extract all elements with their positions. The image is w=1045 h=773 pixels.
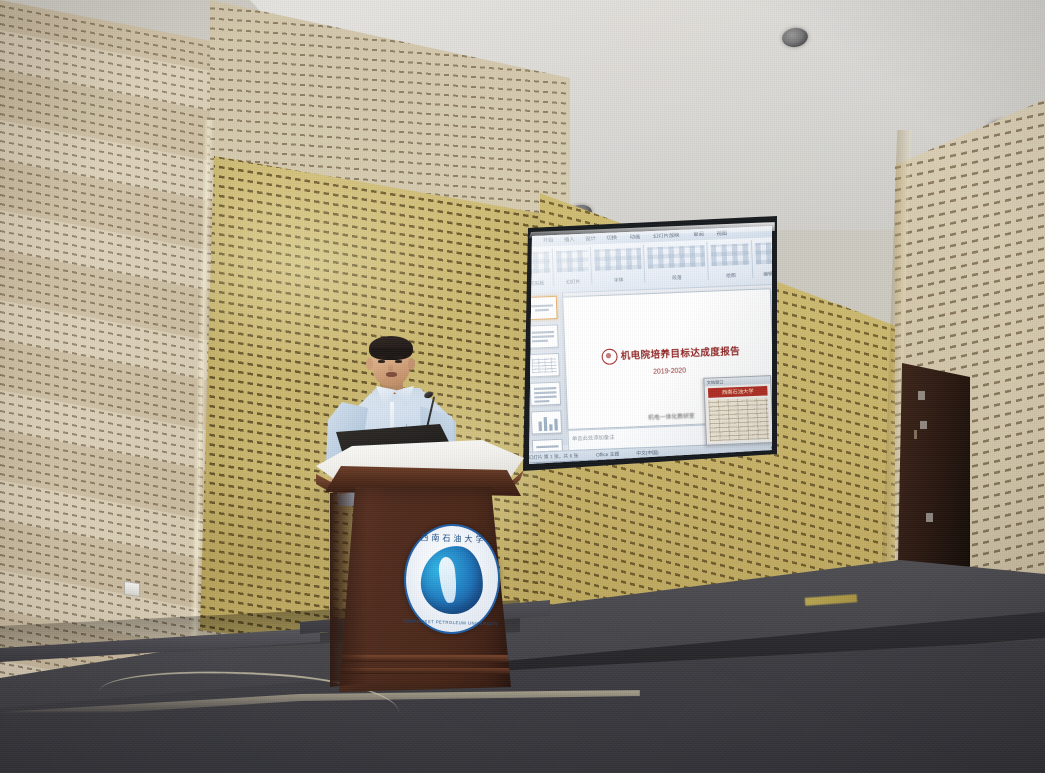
slide-thumbnail[interactable] <box>529 324 558 349</box>
overlay-document-window[interactable]: 文档窗口 西南石油大学 <box>703 375 772 446</box>
door-plate <box>918 391 925 400</box>
ribbon-group-clipboard[interactable]: 剪贴板 <box>529 248 554 287</box>
overlay-banner-text: 西南石油大学 <box>708 387 768 397</box>
ribbon[interactable]: 剪贴板 幻灯片 字体 段落 绘图 <box>529 237 772 295</box>
notes-placeholder: 单击此处添加备注 <box>572 433 615 442</box>
presenter-mouth <box>386 372 397 377</box>
slide-title: 机电院培养目标达成度报告 <box>620 343 759 362</box>
presenter-eye <box>378 360 385 363</box>
presenter-eyebrow <box>394 356 403 358</box>
door-plate <box>926 513 933 522</box>
presenter-ear <box>366 358 373 370</box>
photo-scene: 机电院培养目标达成度报告.ppt - Microsoft PowerPoint … <box>0 0 1045 773</box>
ribbon-group-paragraph[interactable]: 段落 <box>645 242 709 283</box>
overlay-document-body <box>708 398 769 442</box>
slide-thumbnail[interactable] <box>529 353 559 378</box>
door-plate <box>920 421 927 429</box>
ribbon-group-label: 幻灯片 <box>555 278 591 286</box>
ribbon-group-label: 段落 <box>646 274 708 283</box>
ribbon-group-label: 字体 <box>593 276 644 284</box>
presenter-eye <box>395 360 402 363</box>
presenter-ear <box>408 358 415 370</box>
ribbon-group-font[interactable]: 字体 <box>592 244 645 284</box>
slide-thumbnail[interactable] <box>530 410 562 435</box>
ribbon-group-slides[interactable]: 幻灯片 <box>554 247 593 287</box>
presenter-eyebrow <box>377 356 386 358</box>
wall-socket-plate <box>124 581 140 597</box>
projection-screen: 机电院培养目标达成度报告.ppt - Microsoft PowerPoint … <box>529 226 772 464</box>
slide-thumbnail[interactable] <box>529 296 557 321</box>
university-emblem: 西南石油大学 SOUTHWEST PETROLEUM UNIVERSITY <box>402 522 502 635</box>
door-handle[interactable] <box>914 430 917 439</box>
tab-home[interactable]: 开始 <box>543 236 554 244</box>
overlay-banner: 西南石油大学 <box>708 386 768 398</box>
theme-name: Office 主题 <box>596 451 619 458</box>
ribbon-group-drawing[interactable]: 绘图 <box>708 240 753 280</box>
ribbon-group-label: 绘图 <box>710 272 753 280</box>
university-crest-icon <box>601 348 618 365</box>
language: 中文(中国) <box>636 449 658 456</box>
overlay-title-bar[interactable]: 文档窗口 <box>704 376 770 386</box>
lectern-side-face <box>330 487 368 687</box>
slide-counter: 幻灯片 第 1 张，共 6 张 <box>529 452 578 460</box>
zoom-level[interactable]: 66% <box>771 444 772 450</box>
ribbon-group-label: 剪贴板 <box>529 280 553 288</box>
presenter-hair <box>369 336 413 360</box>
presenter-nose <box>388 363 393 371</box>
side-exit-door[interactable] <box>898 363 970 575</box>
ribbon-group-editing[interactable]: 编辑 <box>753 239 772 278</box>
overlay-title-label: 文档窗口 <box>707 379 724 386</box>
slide-thumbnail[interactable] <box>529 382 561 407</box>
ribbon-group-label: 编辑 <box>754 271 772 278</box>
